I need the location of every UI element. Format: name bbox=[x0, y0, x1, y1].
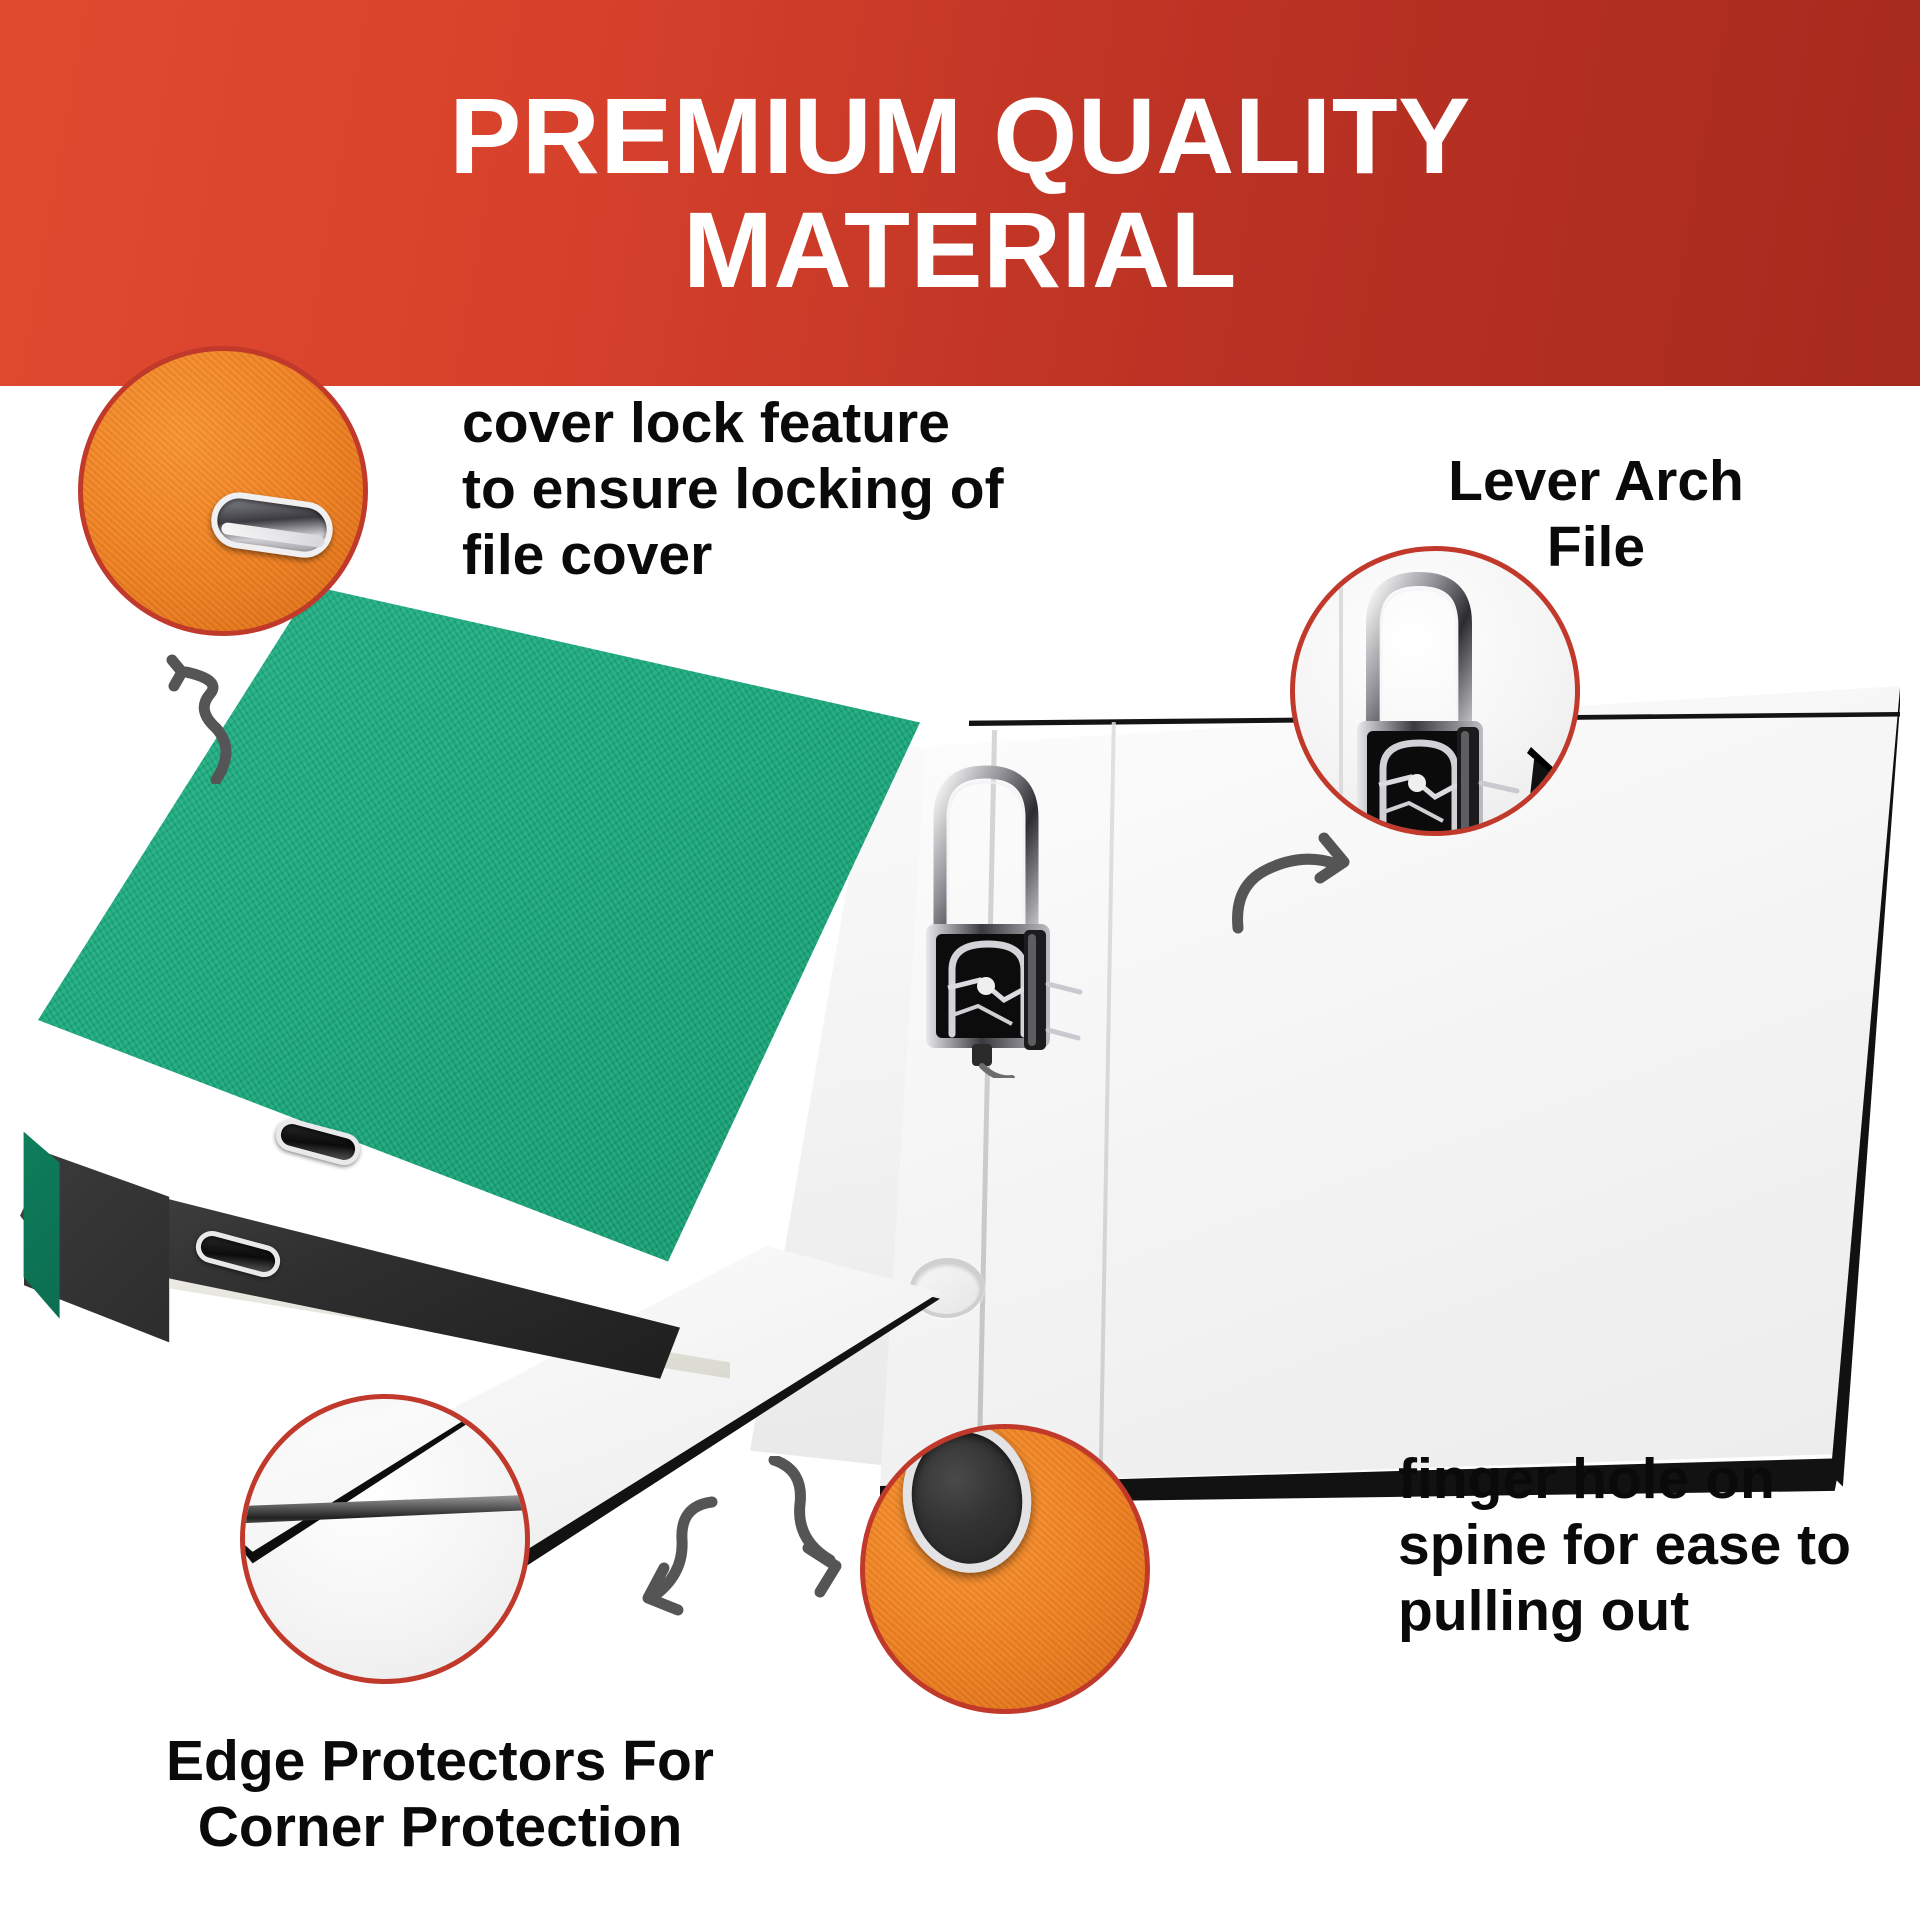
finger-hole-line-3: pulling out bbox=[1398, 1578, 1868, 1644]
callout-label-cover-lock: cover lock feature to ensure locking of … bbox=[462, 390, 1102, 588]
banner-headline-line-2: MATERIAL bbox=[683, 195, 1237, 305]
callout-lever-arch[interactable] bbox=[1290, 546, 1580, 836]
edge-protector-line-2: Corner Protection bbox=[120, 1794, 760, 1860]
connector-arrow-lever-arch-icon bbox=[1228, 818, 1388, 948]
callout-cover-lock[interactable] bbox=[78, 346, 368, 636]
connector-arrow-cover-lock-icon bbox=[152, 654, 272, 784]
callout-label-edge-protector: Edge Protectors For Corner Protection bbox=[120, 1728, 760, 1860]
banner-headline-line-1: PREMIUM QUALITY bbox=[449, 81, 1470, 191]
lever-arch-mechanism-icon bbox=[908, 748, 1098, 1078]
lever-arch-mechanism-zoom-icon bbox=[1295, 551, 1580, 836]
lever-arch-line-1: Lever Arch bbox=[1386, 448, 1806, 514]
connector-arrow-finger-hole-icon bbox=[758, 1456, 898, 1606]
edge-protector-line-1: Edge Protectors For bbox=[120, 1728, 760, 1794]
finger-hole-line-1: finger hole on bbox=[1398, 1446, 1868, 1512]
callout-finger-hole[interactable] bbox=[860, 1424, 1150, 1714]
connector-arrow-edge-protector-icon bbox=[620, 1496, 750, 1646]
product-stage: cover lock feature to ensure locking of … bbox=[0, 386, 1920, 1920]
cover-lock-line-3: file cover bbox=[462, 522, 1102, 588]
cover-lock-line-1: cover lock feature bbox=[462, 390, 1102, 456]
cover-lock-line-2: to ensure locking of bbox=[462, 456, 1102, 522]
finger-hole-line-2: spine for ease to bbox=[1398, 1512, 1868, 1578]
callout-label-finger-hole: finger hole on spine for ease to pulling… bbox=[1398, 1446, 1868, 1644]
header-banner: PREMIUM QUALITY MATERIAL bbox=[0, 0, 1920, 386]
callout-edge-protector[interactable] bbox=[240, 1394, 530, 1684]
